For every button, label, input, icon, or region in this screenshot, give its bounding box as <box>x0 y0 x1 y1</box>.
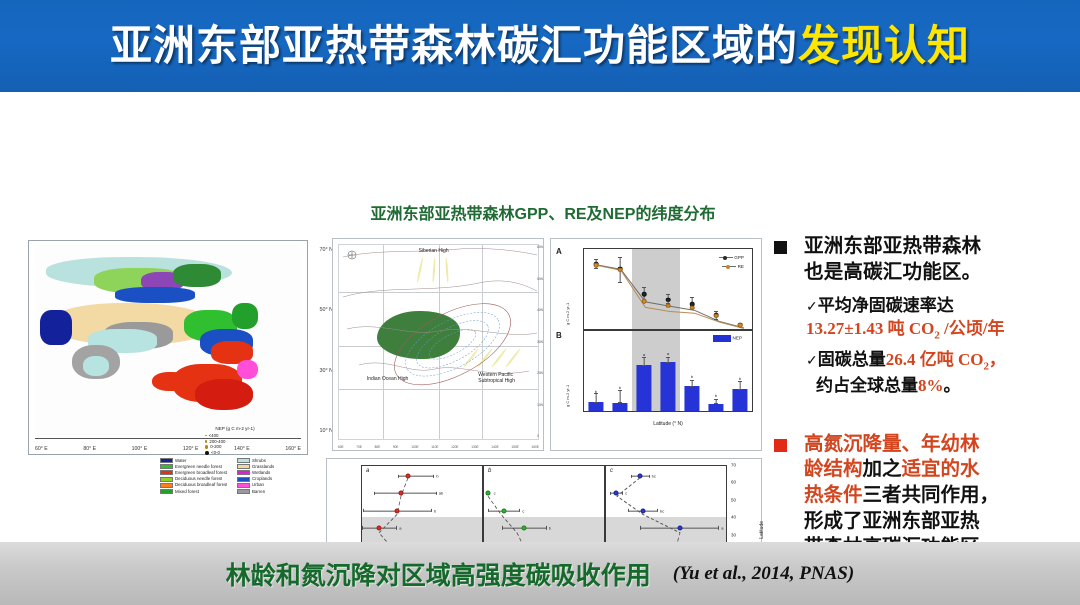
legend-marker-re <box>722 266 736 267</box>
legend-label: Evergreen needle forest <box>175 464 222 470</box>
bullet1-item2: ✓固碳总量26.4 亿吨 CO2， <box>804 348 1070 374</box>
global-share-value: 8% <box>918 376 944 395</box>
data-point-nep <box>677 525 682 530</box>
sig-letter: ab <box>439 491 443 496</box>
legend-swatch <box>160 483 173 488</box>
error-bar <box>740 381 741 389</box>
lat-tick: 40N <box>537 308 543 312</box>
slide-title-bar: 亚洲东部亚热带森林碳汇功能区域的发现认知 <box>0 0 1080 92</box>
page-title-highlight: 发现认知 <box>798 22 970 69</box>
bullet1-item1-value-line: 13.27±1.43 吨 CO2 /公顷/年 <box>804 317 1070 343</box>
panel-b-ylabel: g C m-2 yr-1 <box>565 385 570 407</box>
legend-marker-nep <box>713 335 731 342</box>
legend-item: Mixed forest <box>160 488 233 494</box>
legend-entry-nep: NEP <box>713 335 742 342</box>
bar-nep <box>733 389 748 411</box>
lon-tick: 70E <box>356 445 362 449</box>
error-bar <box>716 399 717 404</box>
legend-entry-gpp: GPP <box>719 255 744 260</box>
sig-letter: a <box>643 352 645 357</box>
sig-letter: b <box>595 389 597 394</box>
data-point-re <box>642 299 647 304</box>
bullet-block-1: 亚洲东部亚热带森林 也是高碳汇功能区。 ✓平均净固碳速率达 13.27±1.43… <box>770 234 1070 398</box>
sig-letter: b <box>434 508 436 513</box>
bullet2-line1: 高氮沉降量、年幼林 <box>804 433 980 455</box>
lon-tick: 90E <box>393 445 399 449</box>
lon-tick: 100E <box>411 445 418 449</box>
y-axis-title-latitude: Latitude <box>759 521 765 539</box>
data-point-ndep <box>521 525 526 530</box>
total-carbon-unit-post: ， <box>989 350 1006 369</box>
error-bar <box>398 476 434 477</box>
synoptic-label-siberian-high: Siberian High <box>419 249 449 255</box>
legend-swatch <box>237 483 250 488</box>
data-point-re <box>690 306 695 311</box>
sig-letter: b <box>739 376 741 381</box>
carbon-rate-value: 13.27±1.43 <box>806 319 883 338</box>
legend-item: Evergreen broadleaf forest <box>160 470 233 476</box>
legend-swatch <box>160 477 173 482</box>
nep-class-scale: <400 200-400 0-200 <0-0 <box>205 433 265 456</box>
legend-label: Water <box>175 458 187 464</box>
y-tick-lat: 50 <box>731 497 736 502</box>
error-bar <box>692 380 693 387</box>
map-region-philippines <box>237 360 258 379</box>
bullet2-line2-black: 加之 <box>863 458 902 480</box>
sig-letter: b <box>549 525 551 530</box>
caption-reference: (Yu et al., 2014, PNAS) <box>673 563 854 585</box>
legend-item: Deciduous broadleaf forest <box>160 482 233 488</box>
data-point-re <box>594 263 599 268</box>
slide-body: 60° E 80° E 100° E 120° E 140° E 160° E … <box>0 92 1080 542</box>
sig-letter: b <box>691 374 693 379</box>
right-text-column: 亚洲东部亚热带森林 也是高碳汇功能区。 ✓平均净固碳速率达 13.27±1.43… <box>770 234 1070 571</box>
check-icon: ✓ <box>806 352 818 368</box>
bullet2-line3-red: 热条件 <box>804 484 863 506</box>
legend-label-nep: NEP <box>733 336 742 341</box>
total-carbon-unit-pre: 亿吨 CO <box>915 350 983 369</box>
sig-letter: b <box>436 474 438 479</box>
bar-nep <box>612 403 627 411</box>
error-bar <box>596 393 597 402</box>
synoptic-map-figure: Siberian High Indian Ocean High Western … <box>332 238 544 451</box>
lat-tick: 60N <box>537 245 543 249</box>
error-bar <box>620 390 621 403</box>
sig-letter: a <box>721 525 723 530</box>
bullet1-heading-line1: 亚洲东部亚热带森林 <box>804 234 1070 260</box>
synoptic-lat-ticks: 60N 50N 40N 30N 20N 10N 0 <box>537 245 543 438</box>
y-tick-lat: 60 <box>731 480 736 485</box>
map-region-india-shrubs <box>83 356 110 375</box>
bullet1-item1-text: 平均净固碳速率达 <box>818 296 954 315</box>
legend-label: Wetlands <box>252 470 270 476</box>
data-point-re <box>618 268 623 273</box>
legend-label: Deciduous broadleaf forest <box>175 482 227 488</box>
legend-label: Grasslands <box>252 464 274 470</box>
bar-nep <box>588 402 603 411</box>
data-point-age <box>377 525 382 530</box>
lat-tick: 30° N <box>319 368 333 374</box>
synoptic-label-western-pacific-subtropical-high: Western Pacific Subtropical High <box>478 373 534 384</box>
caption-chinese: 林龄和氮沉降对区域高强度碳吸收作用 <box>226 556 651 592</box>
legend-entry-re: RE <box>722 264 744 269</box>
lon-tick: 80E <box>375 445 381 449</box>
data-point-age <box>399 491 404 496</box>
legend-item: Barren <box>237 488 310 494</box>
data-point-gpp <box>666 297 671 302</box>
legend-column-left: Water Evergreen needle forest Evergreen … <box>160 457 233 494</box>
sig-letter: a <box>667 351 669 356</box>
bullet-square-icon <box>774 241 787 254</box>
panel-letter-b: B <box>556 331 562 340</box>
bullet1-item1: ✓平均净固碳速率达 <box>804 294 1070 317</box>
bullet2-line2-red: 龄结构 <box>804 458 863 480</box>
carbon-rate-unit-pre: 吨 CO <box>883 319 934 338</box>
data-point-nep <box>637 474 642 479</box>
total-carbon-value: 26.4 <box>886 350 916 369</box>
landcover-lat-ticks: 70° N 50° N 30° N 10° N <box>319 247 333 434</box>
legend-label: Urban <box>252 482 264 488</box>
legend-label-re: RE <box>738 264 744 269</box>
synoptic-lon-ticks: 60E 70E 80E 90E 100E 110E 120E 130E 140E… <box>338 445 539 449</box>
legend-item: Deciduous needle forest <box>160 476 233 482</box>
data-point-nep <box>614 491 619 496</box>
bullet2-line4: 形成了亚洲东部亚热 <box>804 509 1070 535</box>
sig-letter: c <box>522 508 524 513</box>
lon-tick: 150E <box>511 445 518 449</box>
lon-tick: 60E <box>338 445 344 449</box>
bar-nep <box>708 404 723 411</box>
legend-swatch <box>237 458 250 463</box>
lat-tick: 0 <box>537 434 543 438</box>
map-region-japan-forest <box>232 303 259 330</box>
legend-swatch <box>160 470 173 475</box>
sig-letter: bc <box>660 508 664 513</box>
bullet1-item2-text: 固碳总量 <box>818 350 886 369</box>
lat-tick: 10° N <box>319 428 333 434</box>
legend-label: Deciduous needle forest <box>175 476 222 482</box>
lat-tick: 10N <box>537 403 543 407</box>
bar-nep <box>684 386 699 411</box>
sig-letter: c <box>494 491 496 496</box>
lat-tick: 70° N <box>319 247 333 253</box>
lon-tick: 130E <box>471 445 478 449</box>
synoptic-map-canvas: Siberian High Indian Ocean High Western … <box>338 244 539 440</box>
caption-bar: 林龄和氮沉降对区域高强度碳吸收作用 (Yu et al., 2014, PNAS… <box>0 542 1080 605</box>
sig-letter: a <box>399 525 401 530</box>
map-region-water-west <box>40 310 72 345</box>
data-point-re <box>666 304 671 309</box>
sig-letter: c <box>625 491 627 496</box>
lon-tick: 100° E <box>132 446 148 452</box>
map-region-indochina <box>152 372 189 391</box>
data-point-ndep <box>502 508 507 513</box>
landcover-map-figure: 60° E 80° E 100° E 120° E 140° E 160° E … <box>28 240 308 455</box>
panel-a-plot: 0 1000 2000 3000 4000 <box>583 248 753 330</box>
error-bar <box>374 493 436 494</box>
bar-nep <box>636 365 651 411</box>
landcover-map-canvas <box>35 245 301 437</box>
panel-a-ylabel: g C m-2 yr-1 <box>565 303 570 325</box>
panel-b-plot: 0 100 200 300 400 500 b b a a b b <box>583 330 753 412</box>
legend-label: Barren <box>252 489 265 495</box>
legend-label-gpp: GPP <box>734 255 744 260</box>
data-point-nep <box>640 508 645 513</box>
legend-label: Shrubs <box>252 458 266 464</box>
legend-swatch <box>237 464 250 469</box>
data-point-re <box>714 314 719 319</box>
lon-tick: 80° E <box>83 446 96 452</box>
y-tick-lat: 70 <box>731 463 736 468</box>
error-bar <box>668 357 669 363</box>
figure-title: 亚洲东部亚热带森林GPP、RE及NEP的纬度分布 <box>318 200 768 224</box>
landcover-legend: NEP (g C m-2 yr-1) <400 200-400 0-200 <0… <box>160 426 310 495</box>
panel-letter-a: A <box>556 247 562 256</box>
bullet1-item3-pre: 约占全球总量 <box>816 376 918 395</box>
data-point-ndep <box>485 491 490 496</box>
data-point-gpp <box>642 292 647 297</box>
nep-class-label: <0-0 <box>211 450 220 456</box>
page-title: 亚洲东部亚热带森林碳汇功能区域的发现认知 <box>110 25 970 67</box>
map-region-needle-forest <box>173 264 221 287</box>
lon-tick: 60° E <box>35 446 48 452</box>
data-point-re <box>738 323 743 328</box>
bullet1-heading-line2: 也是高碳汇功能区。 <box>804 260 1070 286</box>
bullet1-item3-post: 。 <box>944 376 961 395</box>
legend-swatch <box>237 489 250 494</box>
legend-swatch <box>160 464 173 469</box>
lat-tick: 50° N <box>319 307 333 313</box>
error-bar <box>644 357 645 365</box>
x-axis-title-latitude: Latitude (° N) <box>583 421 753 427</box>
legend-column-right: Shrubs Grasslands Wetlands Croplands Urb… <box>237 457 310 494</box>
legend-swatch <box>237 470 250 475</box>
y-tick-lat: 30 <box>731 532 736 537</box>
sig-letter: b <box>715 393 717 398</box>
legend-swatch <box>237 477 250 482</box>
bar-nep <box>660 362 675 411</box>
bullet2-line2-red2: 适宜的水 <box>902 458 980 480</box>
legend-marker-gpp <box>719 257 733 258</box>
bullet-square-icon <box>774 439 787 452</box>
bullet1-heading: 亚洲东部亚热带森林 也是高碳汇功能区。 <box>804 234 1070 286</box>
sig-letter: bc <box>652 474 656 479</box>
bullet1-item3: 约占全球总量8%。 <box>804 374 1070 397</box>
lat-tick: 20N <box>537 371 543 375</box>
page-title-main: 亚洲东部亚热带森林碳汇功能区域的 <box>110 22 798 69</box>
legend-swatch <box>160 489 173 494</box>
nep-class-row: <0-0 <box>205 450 265 456</box>
lat-tick: 50N <box>537 277 543 281</box>
monsoon-belt-contours <box>339 245 538 439</box>
gpp-re-nep-chart: A B g C m-2 yr-1 g C m-2 yr-1 0 1000 200… <box>550 238 762 451</box>
legend-swatch <box>160 458 173 463</box>
legend-label: Mixed forest <box>175 489 199 495</box>
map-region-croplands <box>115 287 195 302</box>
y-tick-lat: 40 <box>731 515 736 520</box>
legend-label: Croplands <box>252 476 272 482</box>
lat-tick: 30N <box>537 340 543 344</box>
carbon-rate-unit-post: /公顷/年 <box>940 319 1005 338</box>
sig-letter: b <box>619 385 621 390</box>
lon-tick: 140E <box>491 445 498 449</box>
data-point-age <box>405 474 410 479</box>
lon-tick: 110E <box>431 445 438 449</box>
lon-tick: 120E <box>451 445 458 449</box>
lon-tick: 160E <box>531 445 538 449</box>
bullet2-line3-black: 三者共同作用， <box>863 484 1000 506</box>
legend-title: NEP (g C m-2 yr-1) <box>160 426 310 432</box>
data-point-age <box>395 508 400 513</box>
legend-label: Evergreen broadleaf forest <box>175 470 227 476</box>
check-icon: ✓ <box>806 298 818 314</box>
synoptic-label-indian-ocean-high: Indian Ocean High <box>367 377 407 383</box>
panel-a-lines <box>584 249 752 329</box>
map-region-indonesia <box>195 379 254 410</box>
